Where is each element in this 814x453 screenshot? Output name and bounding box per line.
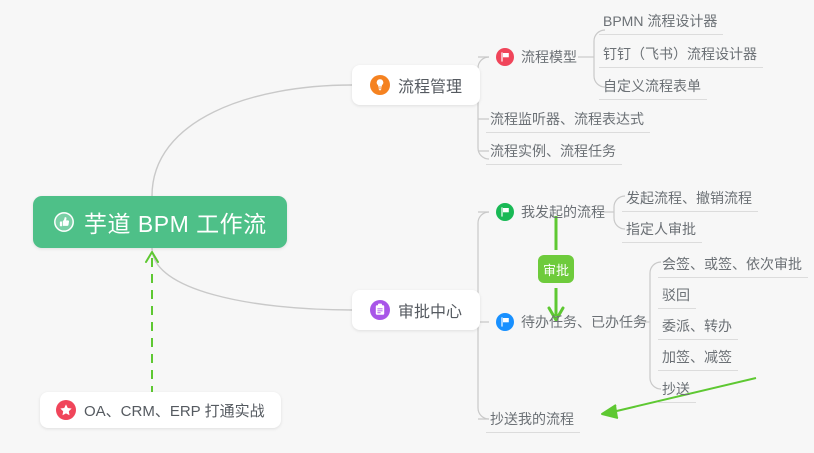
leaf-reject[interactable]: 驳回 xyxy=(658,281,696,309)
link-root-to-liuchengguanli xyxy=(152,85,352,196)
leaf-label: 抄送我的流程 xyxy=(490,409,574,429)
leaf-start-cancel-process[interactable]: 发起流程、撤销流程 xyxy=(622,184,758,212)
leaf-instance-task[interactable]: 流程实例、流程任务 xyxy=(486,137,622,165)
leaf-custom-form[interactable]: 自定义流程表单 xyxy=(599,72,707,100)
leaf-label: 钉钉（飞书）流程设计器 xyxy=(603,44,757,64)
root-node[interactable]: 芋道 BPM 工作流 xyxy=(33,196,287,248)
leaf-label: 流程实例、流程任务 xyxy=(490,141,616,161)
leaf-label: BPMN 流程设计器 xyxy=(603,11,717,31)
node-liuchengmoxing[interactable]: 流程模型 xyxy=(492,43,583,71)
lightbulb-icon xyxy=(370,75,390,95)
leaf-countersign[interactable]: 会签、或签、依次审批 xyxy=(658,250,808,278)
leaf-label: 抄送 xyxy=(662,379,690,399)
leaf-chaosong-wode-liucheng[interactable]: 抄送我的流程 xyxy=(486,405,580,433)
arrow-head-callout-to-root xyxy=(146,252,158,262)
node-label: 待办任务、已办任务 xyxy=(521,312,647,332)
leaf-label: 流程监听器、流程表达式 xyxy=(490,109,644,129)
node-label: 我发起的流程 xyxy=(521,202,605,222)
callout-label: OA、CRM、ERP 打通实战 xyxy=(84,400,265,421)
node-wofaqidelc[interactable]: 我发起的流程 xyxy=(492,198,611,226)
link-root-to-shenpizhongxin xyxy=(152,248,352,310)
branch-label: 流程管理 xyxy=(398,73,462,97)
flag-icon xyxy=(496,48,514,66)
leaf-dingtalk-designer[interactable]: 钉钉（飞书）流程设计器 xyxy=(599,40,763,68)
leaf-bpmn-designer[interactable]: BPMN 流程设计器 xyxy=(599,7,723,35)
leaf-label: 会签、或签、依次审批 xyxy=(662,254,802,274)
clipboard-icon xyxy=(370,300,390,320)
leaf-label: 加签、减签 xyxy=(662,347,732,367)
branch-node-shenpizhongxin[interactable]: 审批中心 xyxy=(352,290,480,330)
leaf-listener-expression[interactable]: 流程监听器、流程表达式 xyxy=(486,105,650,133)
thumbs-up-icon xyxy=(53,211,75,233)
leaf-delegate-transfer[interactable]: 委派、转办 xyxy=(658,312,738,340)
flag-icon xyxy=(496,313,514,331)
mindmap-canvas: 芋道 BPM 工作流 流程管理 流程模型 BPMN 流程设计器 钉钉（飞书 xyxy=(0,0,814,453)
leaf-label: 自定义流程表单 xyxy=(603,76,701,96)
root-label: 芋道 BPM 工作流 xyxy=(84,205,267,239)
leaf-assignee-approve[interactable]: 指定人审批 xyxy=(622,215,702,243)
leaf-label: 驳回 xyxy=(662,285,690,305)
branch-node-liuchengguanli[interactable]: 流程管理 xyxy=(352,65,480,105)
leaf-label: 委派、转办 xyxy=(662,316,732,336)
node-daibanrenwu[interactable]: 待办任务、已办任务 xyxy=(492,308,653,336)
tag-label: 审批 xyxy=(543,260,569,279)
tag-shenpi[interactable]: 审批 xyxy=(538,255,574,283)
leaf-label: 发起流程、撤销流程 xyxy=(626,188,752,208)
leaf-add-remove-sign[interactable]: 加签、减签 xyxy=(658,343,738,371)
leaf-label: 指定人审批 xyxy=(626,219,696,239)
leaf-chaosong[interactable]: 抄送 xyxy=(658,375,696,403)
branch-label: 审批中心 xyxy=(398,298,462,322)
flag-icon xyxy=(496,203,514,221)
star-icon xyxy=(56,400,76,420)
callout-node-oa-crm-erp[interactable]: OA、CRM、ERP 打通实战 xyxy=(40,392,281,428)
arrow-head-chaosong xyxy=(602,405,618,418)
node-label: 流程模型 xyxy=(521,47,577,67)
